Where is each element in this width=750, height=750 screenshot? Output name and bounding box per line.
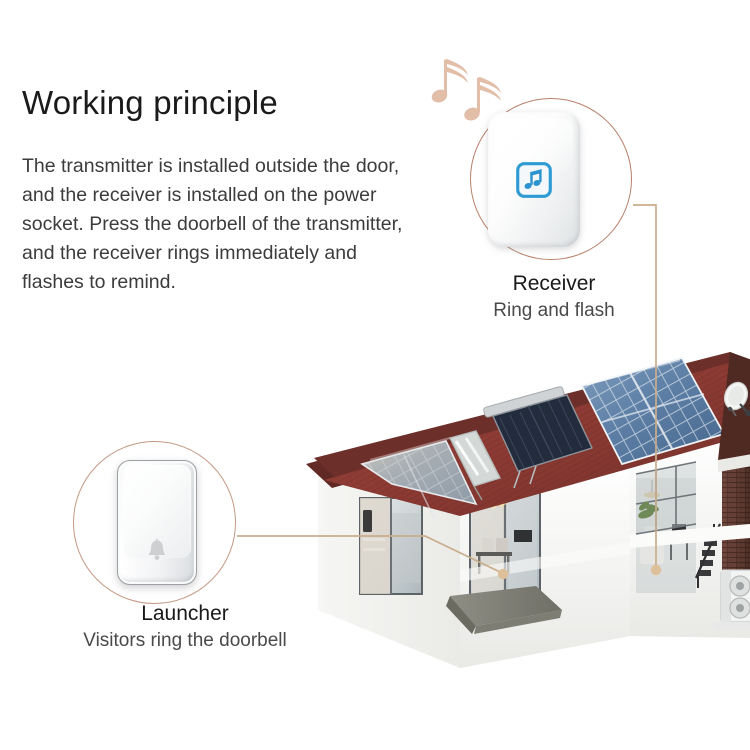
launcher-label: Launcher	[75, 602, 295, 626]
launcher-connector	[237, 536, 500, 572]
launcher-sublabel: Visitors ring the doorbell	[30, 630, 340, 652]
receiver-label: Receiver	[444, 272, 664, 296]
receiver-endpoint-dot	[651, 565, 661, 575]
infographic-canvas: Receiver Ring and flash Launcher Visitor…	[0, 0, 750, 750]
bell-icon	[146, 538, 168, 562]
receiver-connector	[633, 205, 656, 566]
launcher-endpoint-dot	[498, 569, 508, 579]
receiver-device[interactable]	[488, 112, 580, 247]
receiver-sublabel: Ring and flash	[444, 300, 664, 322]
page-title: Working principle	[22, 84, 278, 122]
launcher-device[interactable]	[117, 460, 197, 585]
description-text: The transmitter is installed outside the…	[22, 152, 422, 297]
music-note-icon	[516, 161, 553, 198]
